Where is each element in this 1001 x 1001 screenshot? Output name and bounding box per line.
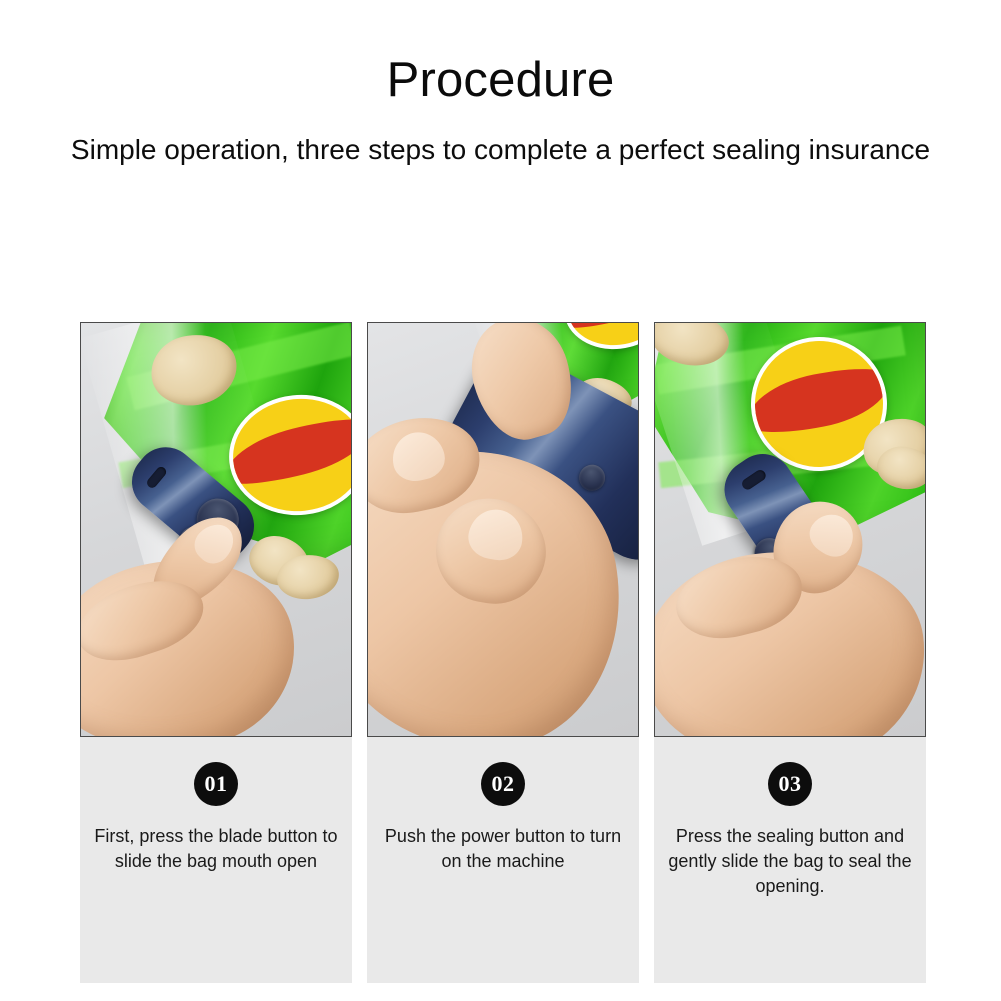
bag-logo-swoosh	[560, 322, 639, 334]
step-caption-card-03: 03 Press the sealing button and gently s…	[654, 737, 926, 983]
step-caption-card-01: 01 First, press the blade button to slid…	[80, 737, 352, 983]
step-photo-02	[367, 322, 639, 737]
step-photo-03	[654, 322, 926, 737]
page-subtitle: Simple operation, three steps to complet…	[0, 107, 1001, 167]
step-number-badge: 02	[481, 762, 525, 806]
step-photo-01	[80, 322, 352, 737]
page-header: Procedure Simple operation, three steps …	[0, 0, 1001, 167]
fingernail	[465, 505, 527, 564]
step-item-02: 02 Push the power button to turn on the …	[367, 322, 639, 983]
step-number-badge: 01	[194, 762, 238, 806]
step-caption-card-02: 02 Push the power button to turn on the …	[367, 737, 639, 983]
blade-slot	[740, 468, 768, 492]
step-number-badge: 03	[768, 762, 812, 806]
bag-logo-swoosh	[748, 360, 891, 440]
step-item-01: 01 First, press the blade button to slid…	[80, 322, 352, 983]
bag-logo-swoosh	[223, 410, 352, 493]
fingernail	[388, 427, 449, 485]
blade-slot	[145, 465, 168, 490]
step-caption-text: First, press the blade button to slide t…	[80, 806, 352, 874]
steps-container: 01 First, press the blade button to slid…	[80, 322, 926, 983]
power-button	[575, 460, 610, 495]
page-title: Procedure	[0, 0, 1001, 107]
fingernail	[188, 516, 242, 570]
step-caption-text: Push the power button to turn on the mac…	[367, 806, 639, 874]
step-item-03: 03 Press the sealing button and gently s…	[654, 322, 926, 983]
step-caption-text: Press the sealing button and gently slid…	[654, 806, 926, 899]
